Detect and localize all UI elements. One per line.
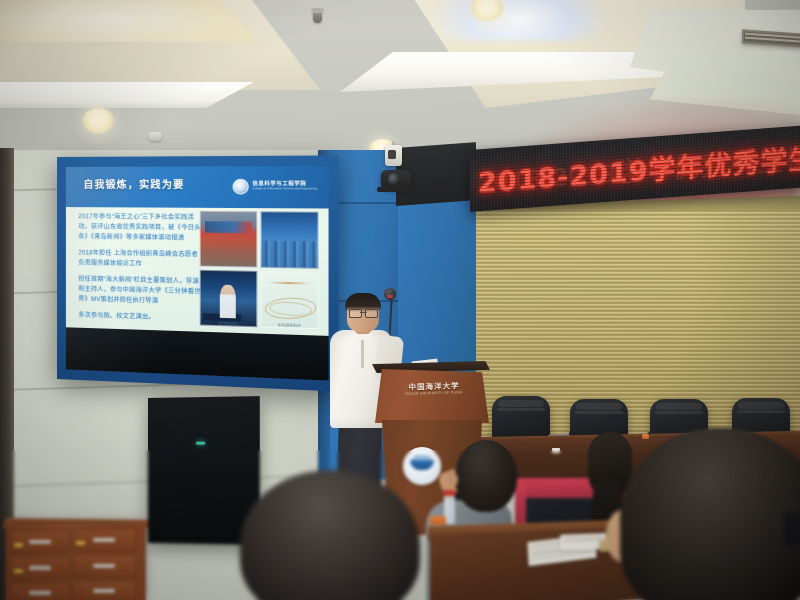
screen-inactive-area — [66, 327, 329, 381]
ptz-camera-base — [377, 187, 415, 192]
podium-front-panel — [375, 369, 489, 423]
drawer-label-tag — [14, 543, 23, 547]
orange-cup — [642, 434, 649, 439]
drawer-handle — [93, 538, 115, 542]
fire-sprinkler — [313, 10, 322, 23]
photo-caption: 优秀实践项目证书 — [261, 322, 317, 328]
screen-display-area: 自我锻炼，实践为要 信息科学与工程学院 College of Informati… — [66, 166, 329, 380]
college-name-en: College of Information Science and Engin… — [252, 188, 317, 191]
drawer-handle — [93, 589, 115, 593]
podium-microphone-icon — [384, 288, 396, 300]
college-logo: 信息科学与工程学院 College of Information Science… — [233, 179, 317, 195]
drawer-handle — [93, 564, 115, 568]
smoke-detector — [148, 132, 162, 141]
cabinet-drawer — [10, 582, 70, 600]
eyeglasses-icon — [349, 309, 378, 316]
slide-header-bar: 自我锻炼，实践为要 信息科学与工程学院 College of Informati… — [66, 166, 329, 208]
soffit-lip-left — [0, 82, 290, 108]
ceiling-soffit-panel-right-2 — [650, 56, 800, 116]
drawer-handle — [29, 591, 51, 595]
drawer-handle — [29, 540, 51, 544]
shirt-placket — [361, 340, 364, 368]
slide-photo-group-ceremony — [200, 211, 257, 267]
lecture-hall-photo: · · ·· · 2018-2019学年优秀学生标兵 2018-2019学年优秀… — [0, 0, 800, 600]
cabinet-drawer — [72, 528, 136, 552]
photo-caption: 海大新闻 主持人 — [201, 320, 256, 326]
eyeglasses-temple — [784, 512, 800, 546]
slide-photo-grid: 海大新闻 主持人 优秀实践项目证书 — [200, 211, 319, 328]
slide-paragraph: 2017年参与“海王之心”三下乡社会实践活动，获评山东省优秀实践项目，被《今日头… — [78, 212, 201, 244]
drawer-label-tag — [76, 541, 85, 545]
slide-text-block: 2017年参与“海王之心”三下乡社会实践活动，获评山东省优秀实践项目，被《今日头… — [78, 212, 201, 331]
presentation-slide: 自我锻炼，实践为要 信息科学与工程学院 College of Informati… — [66, 166, 329, 335]
audience-ear — [447, 472, 458, 487]
slide-photo-news-anchor: 海大新闻 主持人 — [200, 270, 257, 327]
name-card — [552, 448, 560, 453]
surveillance-camera-icon — [385, 145, 402, 166]
ceiling-soffit-panel-left — [0, 0, 320, 90]
slide-photo-certificate: 优秀实践项目证书 — [260, 271, 319, 329]
wooden-drawer-cabinet — [6, 524, 146, 600]
cabinet-drawer — [10, 530, 70, 554]
cabinet-drawer — [72, 554, 136, 578]
slide-paragraph: 担任首期“海大新闻”栏目主要策划人，导演和主持人，参与中国海洋大学《三分钟看世界… — [78, 274, 201, 308]
college-logo-text: 信息科学与工程学院 College of Information Science… — [252, 182, 317, 190]
soffit-light-panel-left — [0, 0, 258, 42]
audience-head — [455, 440, 517, 512]
slide-paragraph: 多次参与院、校文艺演出。 — [78, 310, 201, 324]
college-logo-icon — [233, 179, 249, 195]
slide-photo-volunteers — [260, 212, 319, 269]
slide-body: 2017年参与“海王之心”三下乡社会实践活动，获评山东省优秀实践项目，被《今日头… — [66, 207, 329, 335]
projection-screen: 自我锻炼，实践为要 信息科学与工程学院 College of Informati… — [57, 155, 339, 391]
slide-title: 自我锻炼，实践为要 — [83, 176, 184, 191]
orange-cup — [430, 516, 446, 525]
drawer-label-tag — [14, 569, 23, 573]
ceiling-downlight — [470, 0, 504, 22]
university-emblem-icon — [403, 447, 441, 485]
cabinet-drawer — [72, 580, 136, 600]
ceiling-downlight — [82, 108, 114, 134]
slide-paragraph: 2018年担任 上海合作组织青岛峰会志愿者 负责服务媒体接访工作 — [78, 248, 201, 270]
panel-indicator-led — [196, 441, 205, 444]
cabinet-drawer — [10, 556, 70, 580]
bottle-cap — [444, 490, 455, 496]
drawer-handle — [29, 566, 51, 570]
